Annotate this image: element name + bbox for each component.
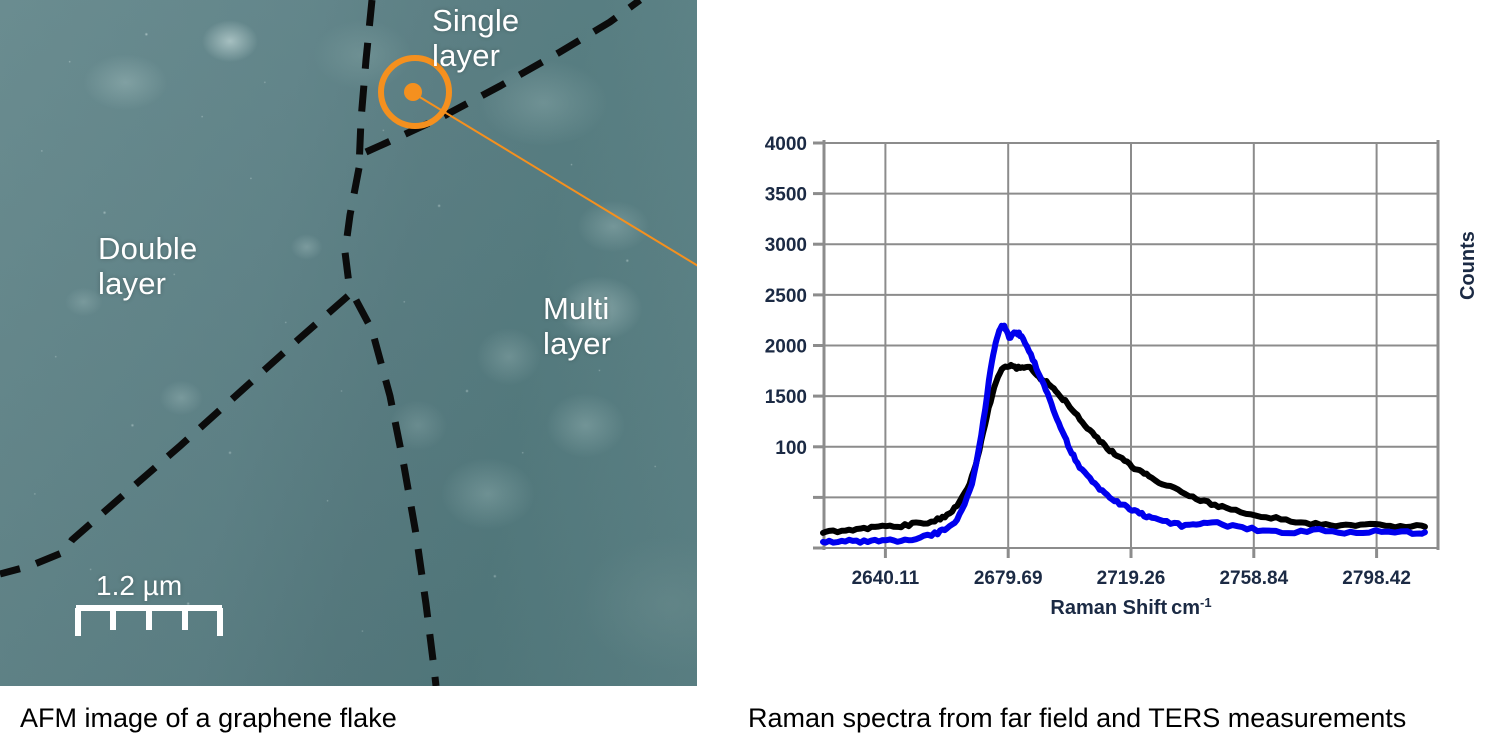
y-tick-label-4000: 4000 [765, 134, 807, 155]
caption-spectra: Raman spectra from far field and TERS me… [748, 703, 1406, 734]
y-tick-label-2000: 2000 [765, 337, 807, 358]
y-tick-label-3500: 3500 [765, 185, 807, 206]
afm-label-double-layer: Double layer [98, 232, 197, 301]
x-tick-label-3: 2719.26 [1097, 568, 1166, 589]
x-tick-labels: 2640.11 2679.69 2719.26 2758.84 2798.42 [852, 568, 1411, 589]
boundary-mid-vertical [345, 168, 359, 292]
x-tick-label-5: 2798.42 [1342, 568, 1411, 589]
y-tick-label-3000: 3000 [765, 235, 807, 256]
measurement-spot-marker [381, 58, 697, 292]
measurement-spot-dot [404, 83, 422, 101]
x-tick-label-4: 2758.84 [1219, 568, 1288, 589]
spectra-panel: 4000 3500 3000 2500 2000 1500 100 2640.1… [720, 0, 1500, 686]
boundary-lower-left [0, 296, 348, 574]
scale-bar [76, 608, 222, 636]
x-axis-ticks [885, 548, 1376, 558]
afm-label-multi-layer: Multi layer [543, 292, 611, 361]
boundary-lower-right [356, 300, 436, 686]
caption-afm: AFM image of a graphene flake [20, 703, 397, 734]
y-tick-label-2500: 2500 [765, 286, 807, 307]
y-axis-ticks [813, 143, 824, 548]
scale-bar-group: 1.2 µm [72, 570, 182, 602]
scale-bar-label: 1.2 µm [96, 570, 182, 602]
afm-label-single-layer: Single layer [432, 4, 519, 73]
boundary-vertical-top [359, 0, 372, 168]
afm-panel: Double layer Single layer Multi layer 1.… [0, 0, 697, 686]
x-axis-title: Raman Shiftcm-1 [1050, 595, 1211, 620]
x-tick-label-2: 2679.69 [974, 568, 1043, 589]
y-tick-labels: 4000 3500 3000 2500 2000 1500 100 [765, 134, 807, 459]
y-tick-label-1500: 1500 [765, 387, 807, 408]
raman-spectra-chart: 4000 3500 3000 2500 2000 1500 100 2640.1… [720, 0, 1500, 686]
measurement-spot-leader-line [418, 96, 697, 292]
y-axis-title: Counts [1457, 231, 1480, 300]
y-tick-label-1000: 100 [775, 438, 807, 459]
x-tick-label-1: 2640.11 [852, 568, 920, 589]
x-axis-title-main: Raman Shift [1050, 597, 1167, 619]
figure-root: Double layer Single layer Multi layer 1.… [0, 0, 1500, 751]
